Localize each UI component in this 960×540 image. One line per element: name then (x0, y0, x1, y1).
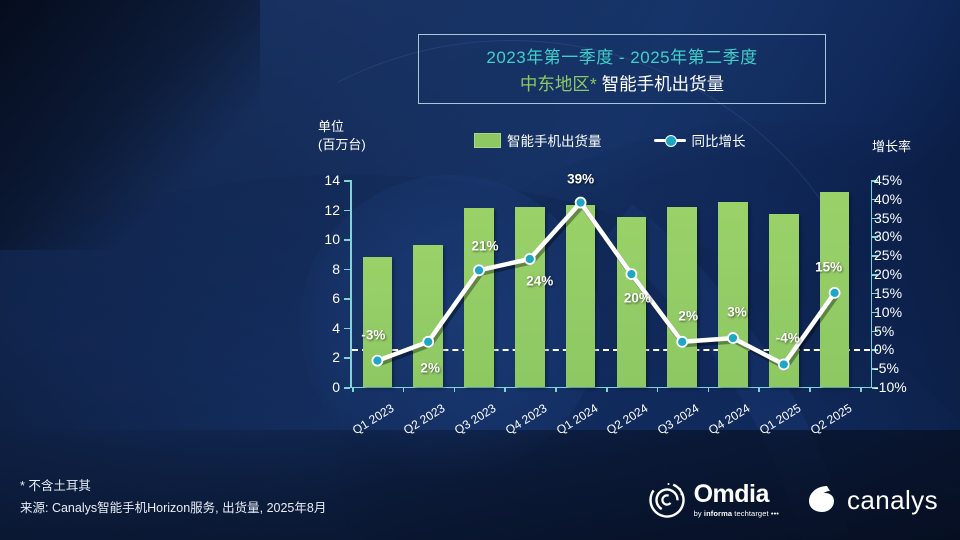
legend-line-swatch-icon (654, 137, 686, 143)
left-axis-unit-line2: (百万台) (318, 136, 366, 154)
right-axis-tick-label: 35% (874, 210, 902, 226)
growth-data-label: 2% (678, 308, 698, 323)
growth-data-label: -4% (776, 331, 800, 346)
growth-data-label: 2% (420, 360, 440, 375)
omdia-tagline-pre: by (694, 509, 704, 518)
left-axis-tick-label: 14 (324, 172, 340, 188)
left-axis-tick-label: 6 (332, 290, 340, 306)
omdia-tagline: by informa techtarget ••• (694, 509, 779, 518)
source-note: 来源: Canalys智能手机Horizon服务, 出货量, 2025年8月 (20, 497, 326, 516)
growth-marker[interactable] (474, 265, 484, 275)
omdia-tagline-bold: informa (704, 509, 732, 518)
callout-text: 尽管地缘政治存在不确 定性，受消费者支出和 经济增长推动，2025年 第二季度中… (8, 182, 308, 335)
right-axis-tick-label: 15% (874, 285, 902, 301)
growth-data-label: 39% (567, 171, 594, 186)
slide-root: 2023年第一季度 - 2025年第二季度 中东地区* 智能手机出货量 尽管地缘… (0, 0, 960, 540)
growth-marker[interactable] (576, 198, 586, 208)
right-axis-tick-label: 0% (874, 341, 894, 357)
legend-bar-swatch-icon (474, 133, 501, 148)
growth-marker[interactable] (525, 254, 535, 264)
callout-line: 市场同比增长15% (8, 304, 308, 335)
left-axis-tick (344, 328, 350, 330)
right-axis-tick-label: 20% (874, 266, 902, 282)
omdia-mark-icon (647, 480, 687, 520)
callout-line: 第二季度中东智能手机 (8, 274, 308, 305)
left-axis-tick-label: 2 (332, 349, 340, 365)
chart-title-subject: 中东地区* 智能手机出货量 (520, 71, 724, 96)
footnote: * 不含土耳其 (20, 475, 91, 494)
logo-group: Omdia by informa techtarget ••• canalys (647, 480, 938, 520)
right-axis-tick-label: 5% (874, 323, 894, 339)
growth-marker[interactable] (677, 337, 687, 347)
right-axis-tick-label: 30% (874, 228, 902, 244)
canalys-mark-icon (805, 482, 839, 519)
omdia-logo: Omdia by informa techtarget ••• (647, 480, 779, 520)
growth-data-label: 20% (624, 291, 651, 306)
right-axis-tick-label: -10% (874, 379, 907, 395)
growth-data-label: 21% (471, 239, 498, 254)
growth-marker[interactable] (779, 359, 789, 369)
chart-legend: 智能手机出货量 同比增长 (474, 130, 746, 150)
right-axis-tick-label: 10% (874, 304, 902, 320)
left-axis-tick-label: 10 (324, 231, 340, 247)
canalys-word: canalys (847, 487, 938, 513)
growth-line-series (352, 180, 874, 389)
omdia-tagline-post: techtarget (732, 509, 769, 518)
left-axis-unit-line1: 单位 (318, 118, 366, 136)
left-axis-unit: 单位 (百万台) (318, 118, 366, 153)
omdia-wordmark: Omdia by informa techtarget ••• (694, 482, 779, 518)
legend-line-label: 同比增长 (692, 130, 746, 150)
right-axis-tick-label: 40% (874, 191, 902, 207)
callout-line: 尽管地缘政治存在不确 (8, 182, 308, 213)
growth-marker[interactable] (728, 333, 738, 343)
omdia-word: Omdia (694, 482, 779, 507)
left-axis-tick-label: 0 (332, 379, 340, 395)
chart-title-box: 2023年第一季度 - 2025年第二季度 中东地区* 智能手机出货量 (418, 34, 826, 104)
chart-title-period: 2023年第一季度 - 2025年第二季度 (486, 43, 757, 68)
legend-item-shipments[interactable]: 智能手机出货量 (474, 130, 602, 150)
growth-data-label: 15% (815, 259, 842, 274)
left-axis-tick (344, 180, 350, 182)
growth-data-label: -3% (361, 327, 385, 342)
left-axis-tick (344, 269, 350, 271)
left-axis-tick-label: 4 (332, 320, 340, 336)
left-axis-tick (344, 210, 350, 212)
chart-title-region: 中东地区* (520, 74, 597, 94)
right-axis-tick-label: 25% (874, 247, 902, 263)
left-axis-tick (344, 298, 350, 300)
right-axis-tick-label: 45% (874, 172, 902, 188)
growth-marker[interactable] (423, 337, 433, 347)
left-axis-tick-label: 12 (324, 202, 340, 218)
legend-item-growth[interactable]: 同比增长 (654, 130, 746, 150)
right-axis-label: 增长率 (872, 136, 911, 155)
chart-title-metric: 智能手机出货量 (602, 74, 725, 94)
growth-data-label: 3% (727, 305, 747, 320)
omdia-tagline-dots: ••• (771, 509, 779, 518)
growth-marker[interactable] (372, 356, 382, 366)
canalys-logo: canalys (805, 482, 938, 519)
growth-marker[interactable] (626, 269, 636, 279)
left-axis-tick (344, 357, 350, 359)
growth-marker[interactable] (830, 288, 840, 298)
right-axis-tick-label: -5% (874, 360, 899, 376)
legend-bar-label: 智能手机出货量 (507, 130, 602, 150)
chart-plot-area: 02468101214-10%-5%0%5%10%15%20%25%30%35%… (352, 180, 860, 387)
left-axis-tick-label: 8 (332, 261, 340, 277)
left-axis-tick (344, 387, 350, 389)
left-axis-tick (344, 239, 350, 241)
growth-data-label: 24% (526, 274, 553, 289)
callout-line: 经济增长推动，2025年 (8, 243, 308, 274)
callout-line: 定性，受消费者支出和 (8, 213, 308, 244)
